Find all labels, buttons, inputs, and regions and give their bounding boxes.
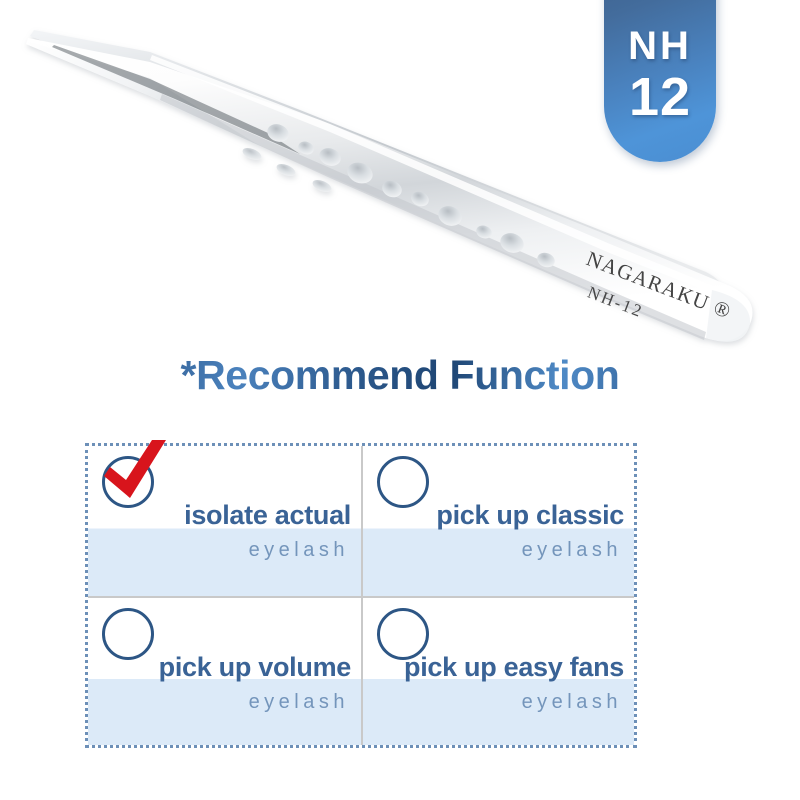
product-infographic: NAGARAKU ® NH‑12 NH 12 *Recommend Functi… (0, 0, 800, 800)
function-title: isolate actual (184, 500, 351, 531)
recommend-function-grid: isolate actual eyelash pick up classic e… (85, 443, 637, 748)
function-subtitle: eyelash (522, 539, 622, 562)
function-cell-pick-up-easy-fans[interactable]: pick up easy fans eyelash (361, 596, 634, 746)
function-cell-pick-up-classic[interactable]: pick up classic eyelash (361, 446, 634, 596)
function-subtitle: eyelash (249, 539, 349, 562)
page-title: *Recommend Function (0, 352, 800, 399)
product-photo: NAGARAKU ® NH‑12 NH 12 (0, 0, 800, 350)
function-subtitle: eyelash (249, 691, 349, 714)
function-cell-isolate-actual[interactable]: isolate actual eyelash (88, 446, 361, 596)
badge-number: 12 (629, 70, 691, 124)
circle-icon[interactable] (102, 456, 154, 508)
model-badge: NH 12 (604, 0, 716, 162)
function-cell-pick-up-volume[interactable]: pick up volume eyelash (88, 596, 361, 746)
function-title: pick up easy fans (404, 652, 624, 683)
function-subtitle: eyelash (522, 691, 622, 714)
function-title: pick up classic (436, 500, 624, 531)
function-title: pick up volume (159, 652, 351, 683)
circle-icon[interactable] (102, 608, 154, 660)
circle-icon[interactable] (377, 456, 429, 508)
badge-prefix: NH (628, 26, 692, 66)
